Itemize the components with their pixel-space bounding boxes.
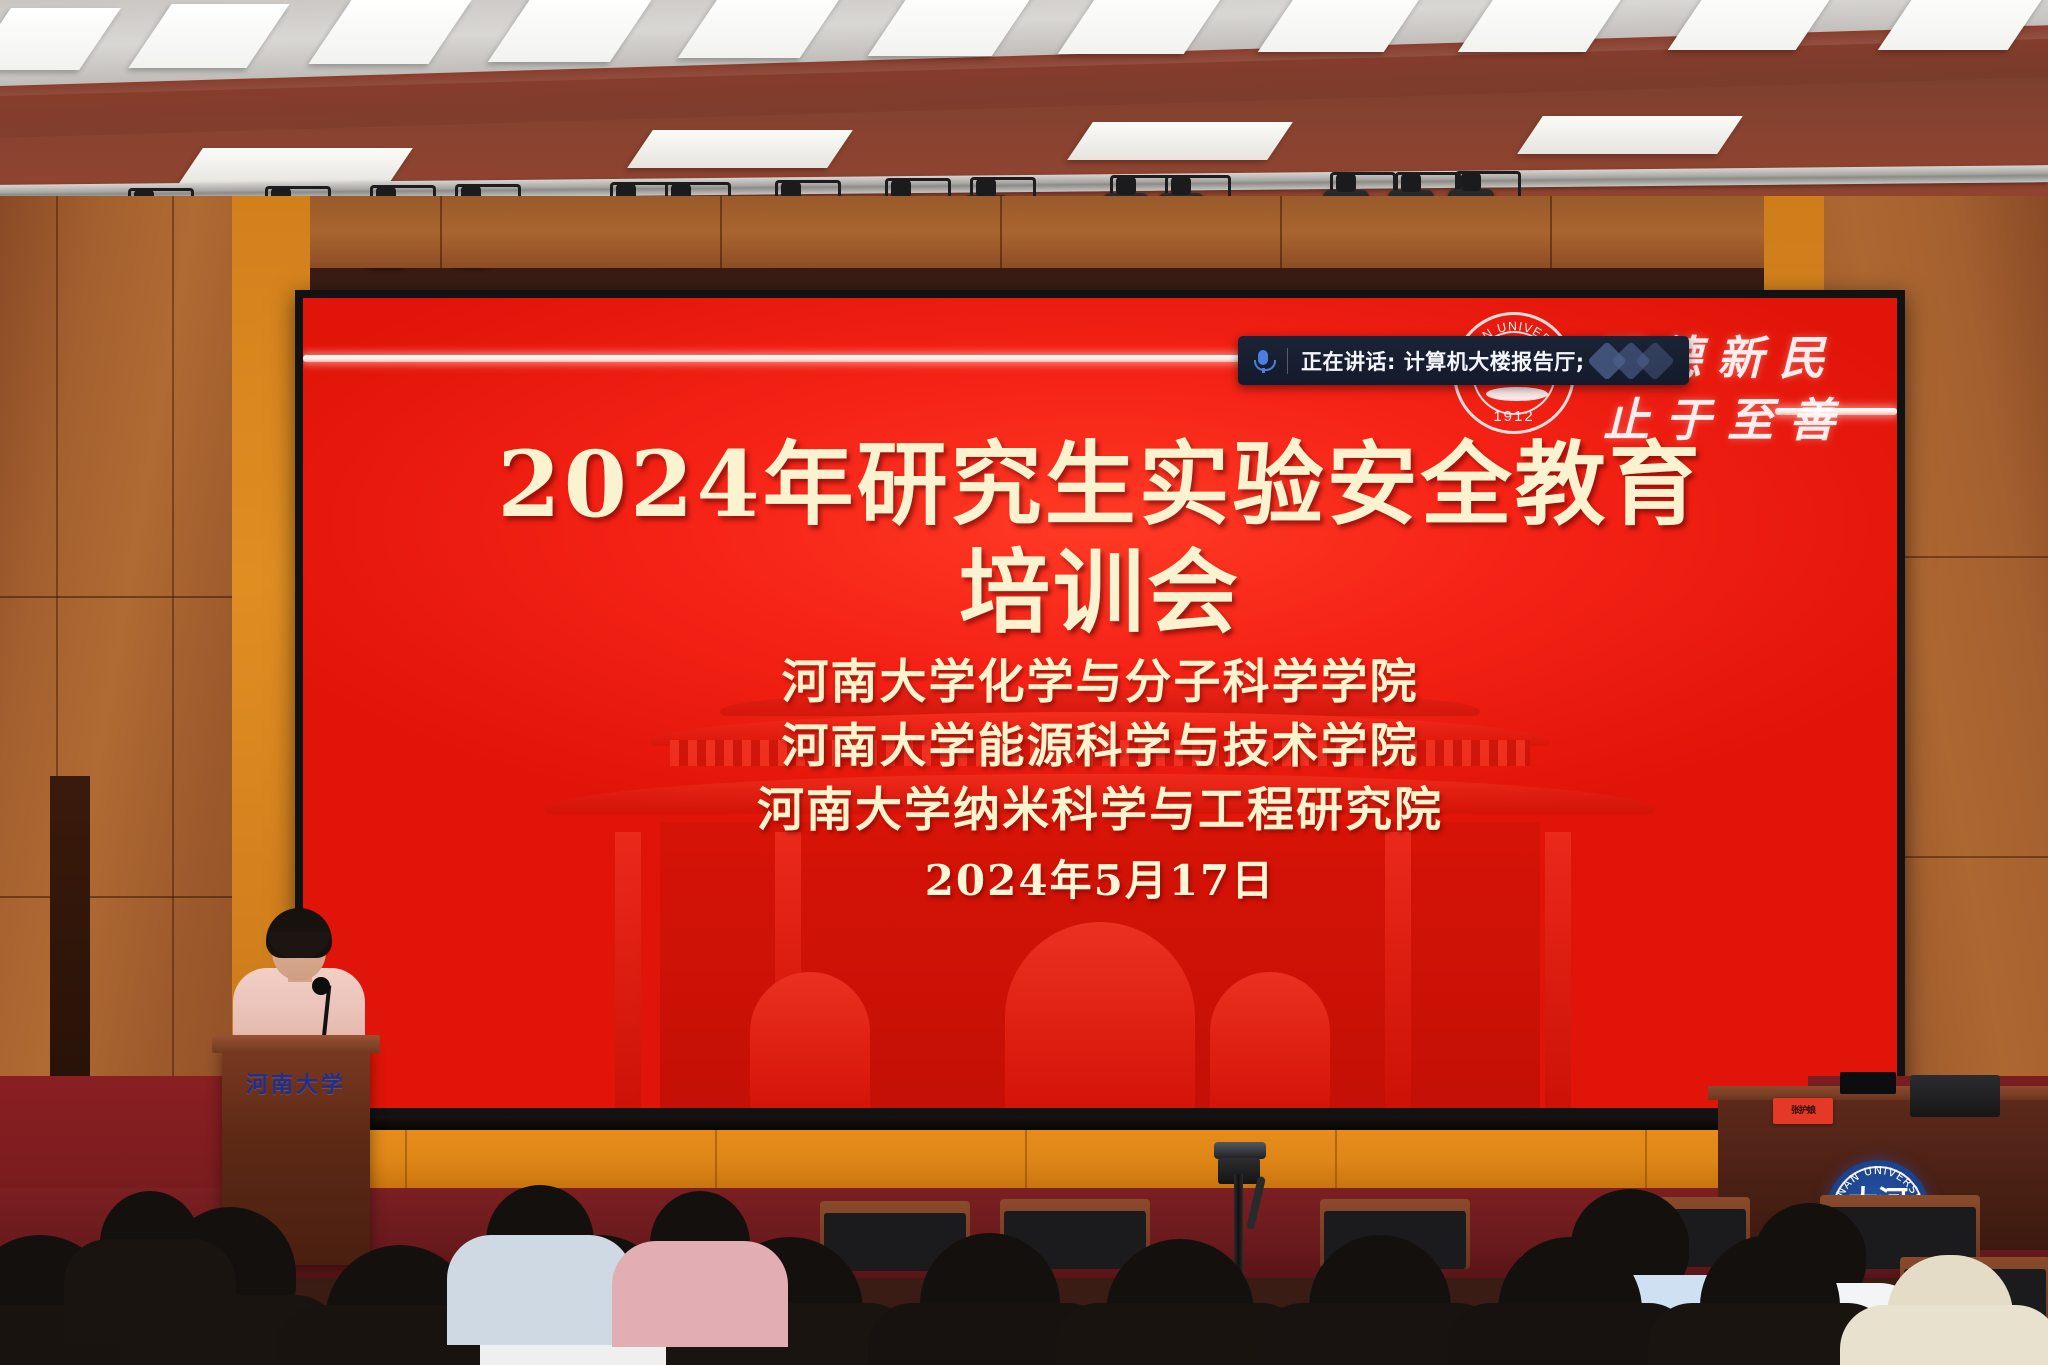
led-screen: HENAN UNIVERSITY 大河 1912 明德新民 止于至善 2024年… [303,298,1897,1108]
smartphone [1510,1301,1572,1335]
ceiling-light-panel [1067,122,1293,160]
overlay-decoration [1593,341,1679,381]
camera-tripod [1178,1140,1298,1365]
banner-organization-2: 河南大学能源科学与技术学院 [303,707,1897,776]
ceiling-light-panel [1517,116,1743,154]
wristwatch [1517,1349,1537,1363]
crest-wave [1486,387,1548,401]
speaking-status-overlay[interactable]: 正在讲话: 计算机大楼报告厅; [1238,336,1689,385]
desk-nameplate: 张护娘 [1773,1098,1833,1124]
overlay-divider [1287,348,1288,374]
camera-icon [1214,1142,1266,1159]
desk-nameplate-label: 张护娘 [1773,1098,1833,1116]
banner-organization-3: 河南大学纳米科学与工程研究院 [303,771,1897,840]
back-wall-upper [300,196,1808,268]
podium: 河南大学 [222,1045,370,1265]
emblem-year: 1912 [1826,1242,1930,1257]
speaking-status-text: 正在讲话: 计算机大楼报告厅; [1301,346,1585,376]
podium-microphone-head [312,977,330,995]
microphone-icon [1252,348,1274,374]
banner-date: 2024年5月17日 [303,847,1897,908]
auditorium-scene: HENAN UNIVERSITY 大河 1912 明德新民 止于至善 2024年… [0,0,2048,1365]
banner-organization-1: 河南大学化学与分子科学学院 [303,643,1897,712]
desk-equipment [1910,1075,2000,1117]
stage-front-orange-panels [295,1130,1905,1188]
banner-title-line-2: 培训会 [303,519,1897,651]
screen-bottom-shadow [295,1116,1905,1130]
led-screen-frame: HENAN UNIVERSITY 大河 1912 明德新民 止于至善 2024年… [295,290,1905,1116]
emblem-chinese-mark: 大河 [1826,1188,1930,1218]
ceiling-light-panel [627,130,853,168]
podium-logo-text: 河南大学 [222,1067,370,1099]
emblem-wave [1852,1225,1904,1236]
wall-emblem: HENAN UNIVERSITY 大河 1912 [1826,1160,1930,1264]
desk-monitor [1840,1072,1896,1094]
